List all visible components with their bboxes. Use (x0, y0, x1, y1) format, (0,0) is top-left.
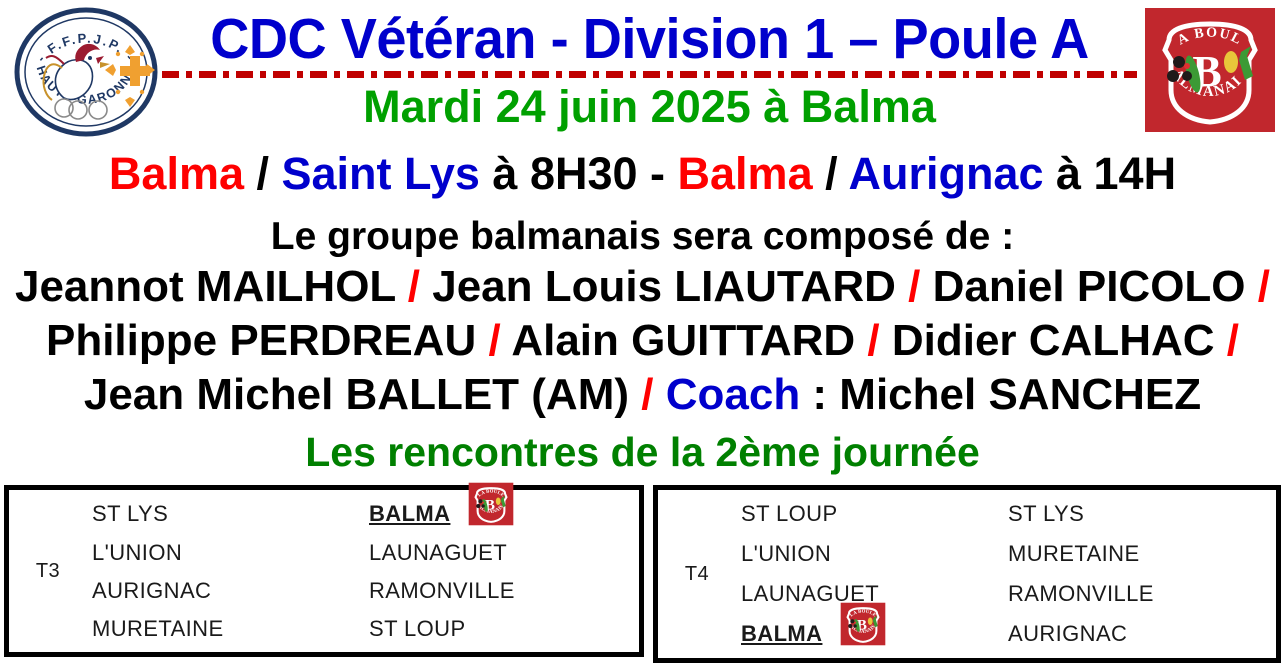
coach-name: : Michel SANCHEZ (800, 370, 1201, 419)
cell-home-team: BALMA LA BOULE (736, 611, 1004, 657)
cell-home-team: ST LYS (87, 501, 365, 527)
squad-line-2: Philippe PERDREAU / Alain GUITTARD / Did… (0, 315, 1285, 367)
section-title: Les rencontres de la 2ème journée (0, 428, 1285, 476)
player-name: Jean Louis LIAUTARD (432, 262, 896, 311)
name-separator: / (867, 316, 879, 365)
cell-home-team: L'UNION (736, 541, 1004, 567)
title-underline-rule (162, 71, 1137, 78)
cell-away-team: RAMONVILLE (1004, 581, 1154, 607)
match1-time: à 8H30 - (480, 148, 678, 199)
player-name: Jean Michel BALLET (AM) (84, 370, 629, 419)
table-row[interactable]: L'UNION MURETAINE (736, 534, 1276, 574)
match2-away-team: Aurignac (848, 148, 1043, 199)
player-name: Didier CALHAC (892, 316, 1215, 365)
cell-away-team: RAMONVILLE (365, 578, 515, 604)
header-block: CDC Vétéran - Division 1 – Poule A Mardi… (162, 8, 1137, 133)
match-table-t4: T4 ST LOUP ST LYS L'UNION MURETAINE (653, 485, 1281, 663)
squad-line-1: Jeannot MAILHOL / Jean Louis LIAUTARD / … (0, 261, 1285, 313)
name-separator: / (1227, 316, 1239, 365)
cell-home-team: MURETAINE (87, 616, 365, 642)
name-separator: / (908, 262, 920, 311)
player-name: Philippe PERDREAU (46, 316, 476, 365)
coach-label: Coach (666, 370, 800, 419)
cell-home-team: L'UNION (87, 540, 365, 566)
table-row[interactable]: L'UNION LAUNAGUET (87, 534, 639, 572)
table-row[interactable]: BALMA LA BOULE (736, 614, 1276, 654)
name-separator: / (1258, 262, 1270, 311)
ffpjp-haute-garonne-logo: - F.F.P.J.P. - HAUTE-GARONNE (12, 6, 160, 138)
table-row[interactable]: LAUNAGUET RAMONVILLE (736, 574, 1276, 614)
table-row[interactable]: ST LYS BALMA LA BOULE (87, 494, 639, 534)
cell-away-team: LAUNAGUET (365, 540, 507, 566)
match2-separator: / (813, 148, 849, 199)
cell-away-team: AURIGNAC (1004, 621, 1127, 647)
table-row[interactable]: AURIGNAC RAMONVILLE (87, 572, 639, 610)
match2-home-team: Balma (678, 148, 813, 199)
cell-away-team: ST LYS (1004, 501, 1084, 527)
round-label-t3: T3 (9, 490, 87, 652)
page-title: CDC Vétéran - Division 1 – Poule A (186, 8, 1112, 70)
match-rows-t4: ST LOUP ST LYS L'UNION MURETAINE LAUNAGU… (736, 490, 1276, 658)
match1-home-team: Balma (109, 148, 244, 199)
squad-intro-text: Le groupe balmanais sera composé de : (0, 214, 1285, 260)
cell-home-team: ST LOUP (736, 501, 1004, 527)
match-table-t3: T3 ST LYS BALMA (4, 485, 644, 657)
table-row[interactable]: MURETAINE ST LOUP (87, 610, 639, 648)
la-boule-balmanaise-logo: LA BOULE BALMANAISE B (840, 601, 886, 647)
round-label-t4: T4 (658, 490, 736, 658)
match2-time: à 14H (1043, 148, 1176, 199)
name-separator: / (641, 370, 653, 419)
page-subtitle: Mardi 24 juin 2025 à Balma (162, 81, 1137, 133)
squad-line-3: Jean Michel BALLET (AM) / Coach : Michel… (0, 369, 1285, 421)
player-name: Alain GUITTARD (511, 316, 855, 365)
match1-away-team: Saint Lys (282, 148, 480, 199)
cell-away-team: MURETAINE (1004, 541, 1140, 567)
cell-away-team: BALMA LA BOULE (365, 491, 514, 537)
la-boule-balmanaise-logo: LA BOULE BALMANAISE B (1143, 4, 1277, 136)
name-separator: / (488, 316, 500, 365)
name-separator: / (408, 262, 420, 311)
matches-line: Balma / Saint Lys à 8H30 - Balma / Aurig… (0, 148, 1285, 200)
match1-separator: / (244, 148, 282, 199)
cell-home-team: AURIGNAC (87, 578, 365, 604)
player-name: Daniel PICOLO (933, 262, 1246, 311)
match-rows-t3: ST LYS BALMA LA BOULE (87, 490, 639, 652)
table-row[interactable]: ST LOUP ST LYS (736, 494, 1276, 534)
la-boule-balmanaise-logo: LA BOULE BALMANAISE B (468, 481, 514, 527)
cell-away-team: ST LOUP (365, 616, 466, 642)
player-name: Jeannot MAILHOL (15, 262, 396, 311)
